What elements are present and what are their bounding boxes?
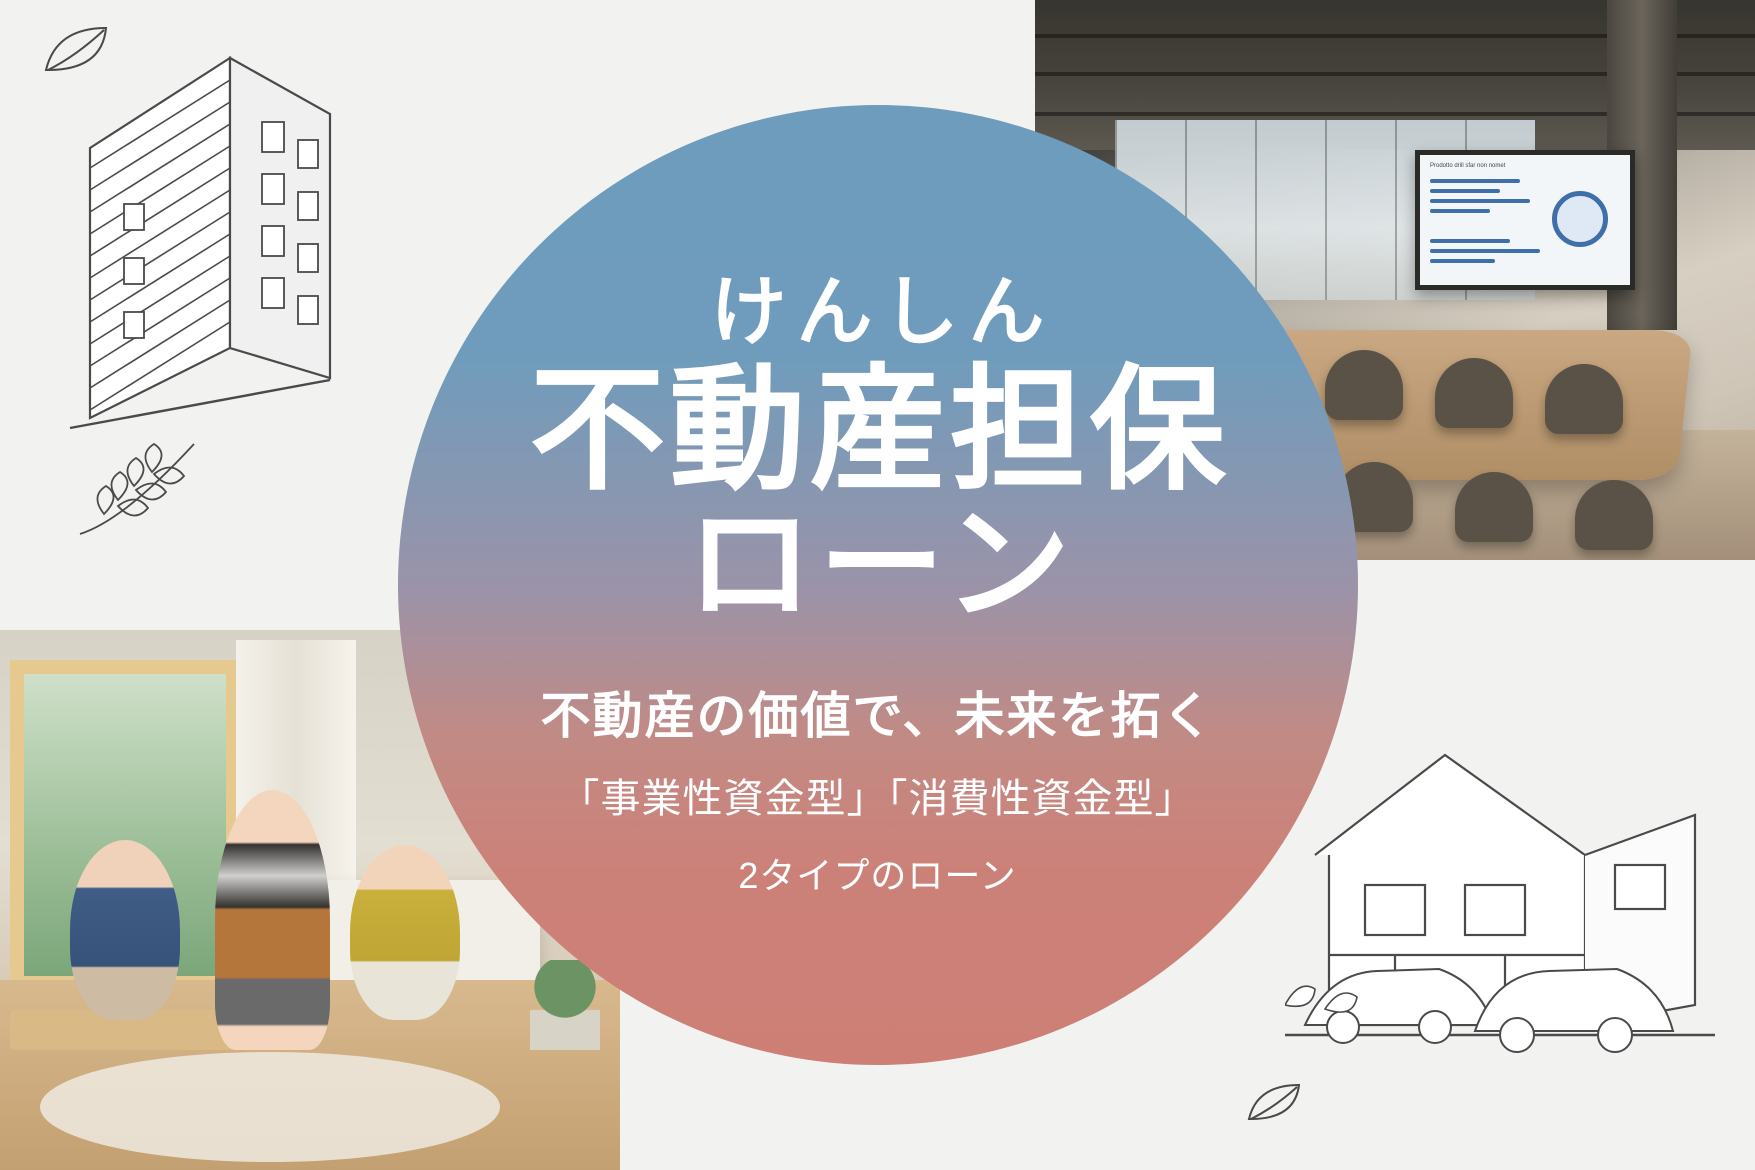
title-line-2: ローン [679,497,1077,633]
loan-types: 「事業性資金型」「消費性資金型」 [560,773,1196,825]
office-presentation-screen: Prodotto drill sfar non nomet [1415,150,1635,290]
promo-banner: Prodotto drill sfar non nomet [0,0,1755,1170]
house-with-cars-illustration [1285,705,1715,1110]
title-line-1: 不動産担保 [526,358,1230,502]
leaf-icon [1245,1079,1303,1130]
leaf-icon [42,22,112,81]
headline-circle: けんしん 不動産担保 ローン 不動産の価値で、未来を拓く 「事業性資金型」「消費… [398,105,1358,1065]
catchphrase: 不動産の価値で、未来を拓く [541,685,1215,748]
person-child [215,790,330,1050]
rug [40,1052,500,1162]
person-mother [350,845,460,1020]
house-plant [530,960,600,1050]
brand-name: けんしん [701,271,1055,355]
screen-caption: Prodotto drill sfar non nomet [1430,163,1505,169]
loan-types-note: 2タイプのローン [738,847,1016,899]
apartment-building-illustration [30,18,360,443]
leaf-icon [74,430,214,545]
person-father [70,840,180,1020]
